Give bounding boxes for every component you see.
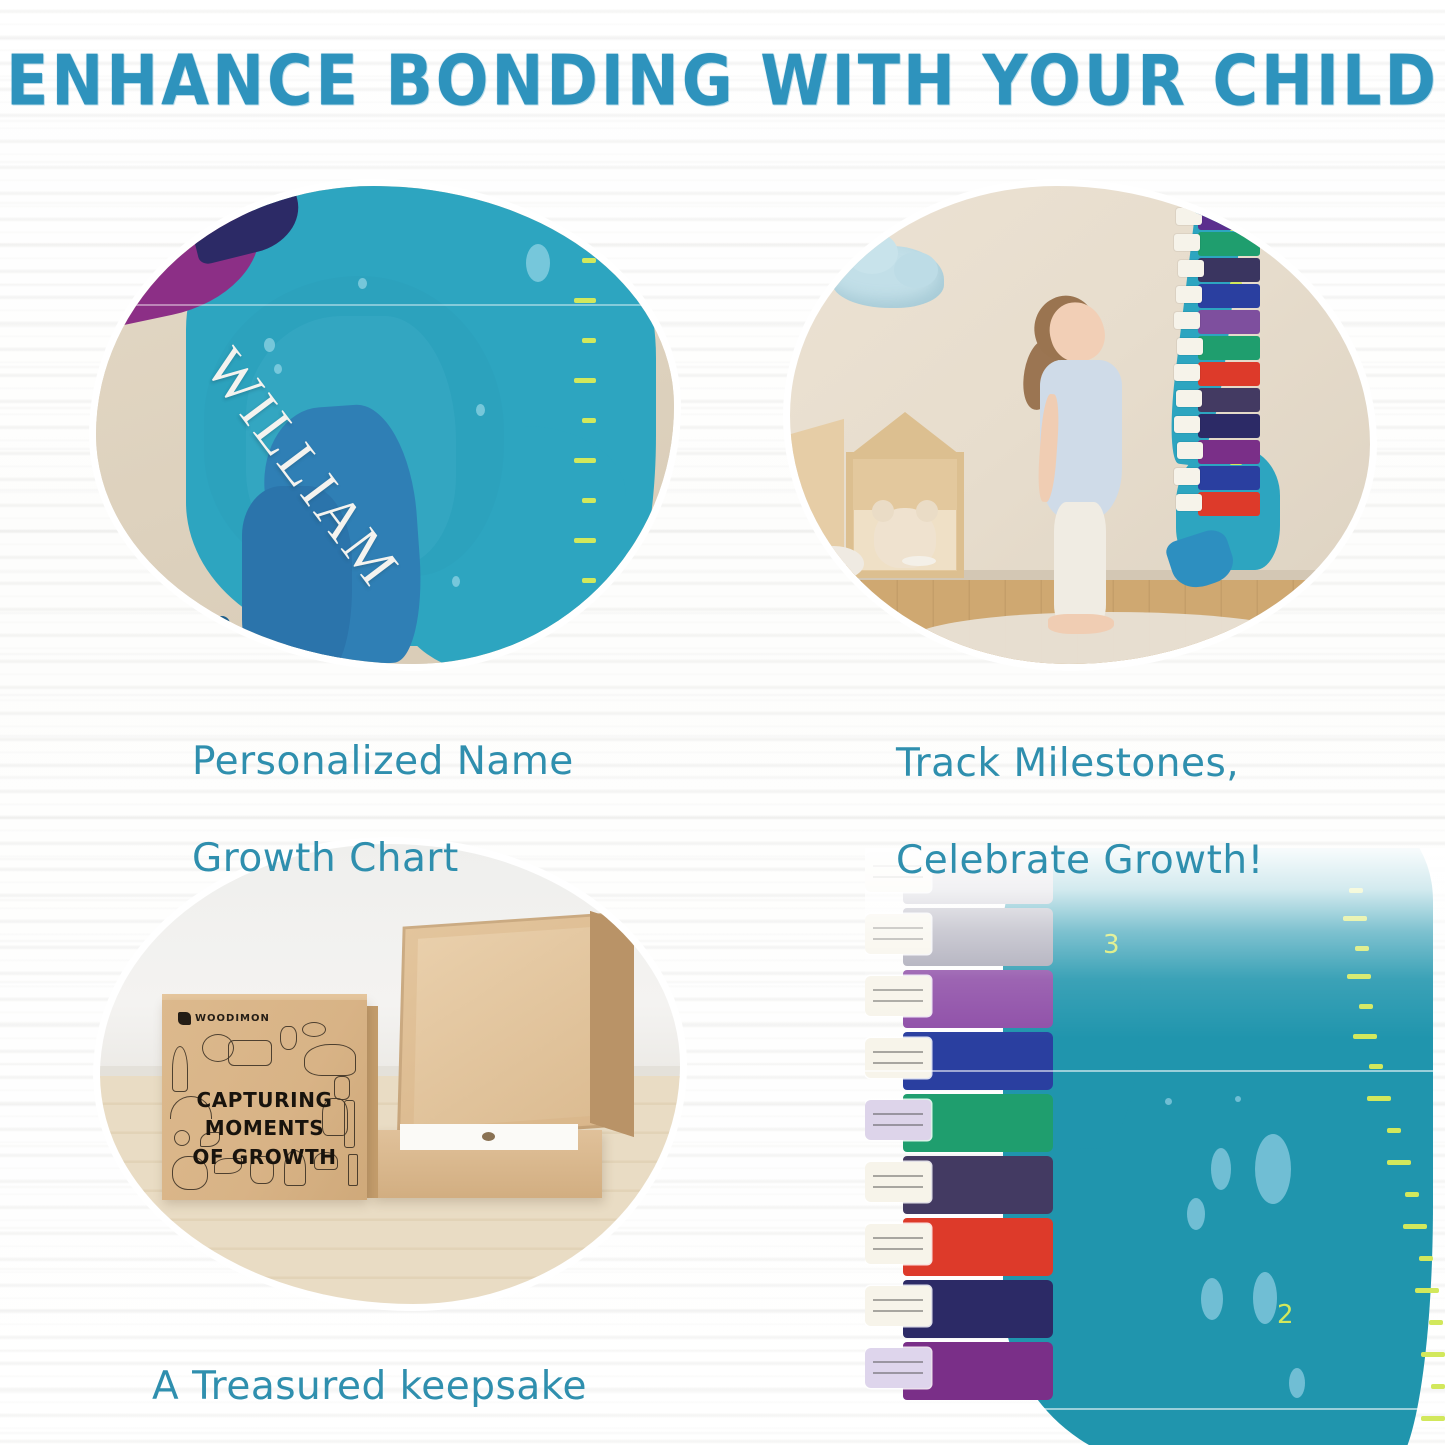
panel-dino-detail: 3 2: [865, 848, 1445, 1445]
spine-plate: [1198, 414, 1260, 438]
spine-plate: [1198, 186, 1260, 204]
dino-spot: [452, 576, 460, 587]
spine-marker-tab: [865, 1224, 931, 1264]
spine-plate: [1198, 466, 1260, 490]
caption-personalized-name: Personalized Name Growth Chart: [192, 690, 712, 932]
dino-spot: [1201, 1278, 1223, 1320]
spine-plate: [1198, 440, 1260, 464]
box-headline-line-1: CAPTURING: [162, 1086, 367, 1114]
spine-marker-tab: [1174, 186, 1200, 199]
ruler-marker-3: 3: [1103, 930, 1120, 960]
spine-marker-tab: [865, 1286, 931, 1326]
child-room-photo: [790, 186, 1370, 664]
doodle-cloud: [302, 1022, 326, 1037]
dino-spot: [1165, 1098, 1172, 1105]
doodle-dinosaur: [304, 1044, 356, 1076]
spine-marker-tab: [1176, 390, 1202, 407]
doodle-pineapple: [280, 1026, 297, 1050]
caption-line-1: Personalized Name: [192, 738, 712, 786]
dino-closeup-photo: WILLIAM: [96, 186, 674, 664]
ruler-ticks-panel1: [556, 186, 596, 664]
caption-line-2: Celebrate Growth!: [896, 837, 1416, 885]
open-box-lid: [397, 912, 621, 1142]
spine-marker-tab: [1177, 442, 1203, 459]
spine-marker-tab: [865, 1100, 931, 1140]
caption-line-1: Track Milestones,: [896, 740, 1416, 788]
spine-marker-tab: [865, 1162, 931, 1202]
page-title: ENHANCE BONDING WITH YOUR CHILD: [0, 44, 1445, 117]
box-insert-hole: [482, 1132, 495, 1141]
spine-plate: [1198, 336, 1260, 360]
spine-plate: [1198, 232, 1260, 256]
spine-marker-tab: [865, 1348, 931, 1388]
dino-spot: [476, 404, 485, 416]
cloud-wall-light: [832, 246, 944, 308]
box-headline-line-2: MOMENTS: [162, 1114, 367, 1142]
panel-track-milestones[interactable]: [790, 186, 1370, 664]
spine-marker-tab: [1174, 234, 1200, 251]
spine-marker-tab: [1174, 468, 1200, 485]
toy-plate: [902, 556, 936, 566]
dino-spot: [1187, 1198, 1205, 1230]
ruler-marker-2: 2: [1277, 1300, 1294, 1330]
dino-spot: [358, 278, 367, 289]
panel-personalized-name[interactable]: WILLIAM: [96, 186, 674, 664]
dino-spine-plates-large: [865, 848, 1055, 1445]
spine-marker-tab: [1174, 416, 1200, 433]
dino-spot: [274, 364, 282, 374]
doodle-lion-body: [228, 1040, 272, 1066]
box-headline: CAPTURING MOMENTS OF GROWTH: [162, 1086, 367, 1171]
dino-spot: [234, 638, 248, 652]
caption-line-2: Growth Chart: [192, 835, 712, 883]
dino-spot: [1211, 1148, 1231, 1190]
measurement-guide-line: [865, 1070, 1445, 1072]
spine-marker-tab: [865, 976, 931, 1016]
spine-marker-tab: [1176, 494, 1202, 511]
plush-toy-dalmatian: [806, 546, 864, 580]
open-box-lid-inner: [414, 927, 598, 1129]
dino-spot: [526, 244, 550, 282]
spine-marker-tab: [1177, 338, 1203, 355]
spine-marker-tab: [1174, 312, 1200, 329]
brand-name-text: WOODIMON: [195, 1013, 270, 1024]
spine-marker-tab: [865, 1038, 931, 1078]
dino-spot: [214, 616, 230, 632]
page-title-text: ENHANCE BONDING WITH YOUR CHILD: [6, 40, 1439, 122]
caption-track-milestones: Track Milestones, Celebrate Growth!: [896, 692, 1416, 934]
spine-plate: [1198, 388, 1260, 412]
spine-plate: [1198, 492, 1260, 516]
caption-treasured-keepsake: A Treasured keepsake: [152, 1315, 672, 1445]
open-box-flap: [590, 911, 634, 1137]
measurement-guide-line: [975, 1408, 1445, 1410]
spine-marker-tab: [1176, 208, 1202, 225]
box-headline-line-3: OF GROWTH: [162, 1143, 367, 1171]
spine-marker-tab: [1174, 364, 1200, 381]
brand-logo: WOODIMON: [178, 1012, 270, 1025]
spine-plate: [1198, 284, 1260, 308]
dino-spot: [1235, 1096, 1241, 1102]
printed-box-front: WOODIMON CAPTURING MOMENTS OF GROWTH: [162, 1000, 367, 1200]
ruler-ticks-large: [1265, 848, 1445, 1445]
spine-plate: [1198, 362, 1260, 386]
spine-plate: [1198, 258, 1260, 282]
spine-marker-tab: [1176, 286, 1202, 303]
dino-spine-plates: [1174, 186, 1260, 594]
spine-plate: [1198, 310, 1260, 334]
spine-plate: [1198, 206, 1260, 230]
caption-line-1: A Treasured keepsake: [152, 1363, 672, 1411]
spine-marker-tab: [1178, 260, 1204, 277]
brand-mark-icon: [178, 1012, 191, 1025]
dino-spot: [264, 338, 275, 352]
child-feet: [1048, 614, 1114, 634]
